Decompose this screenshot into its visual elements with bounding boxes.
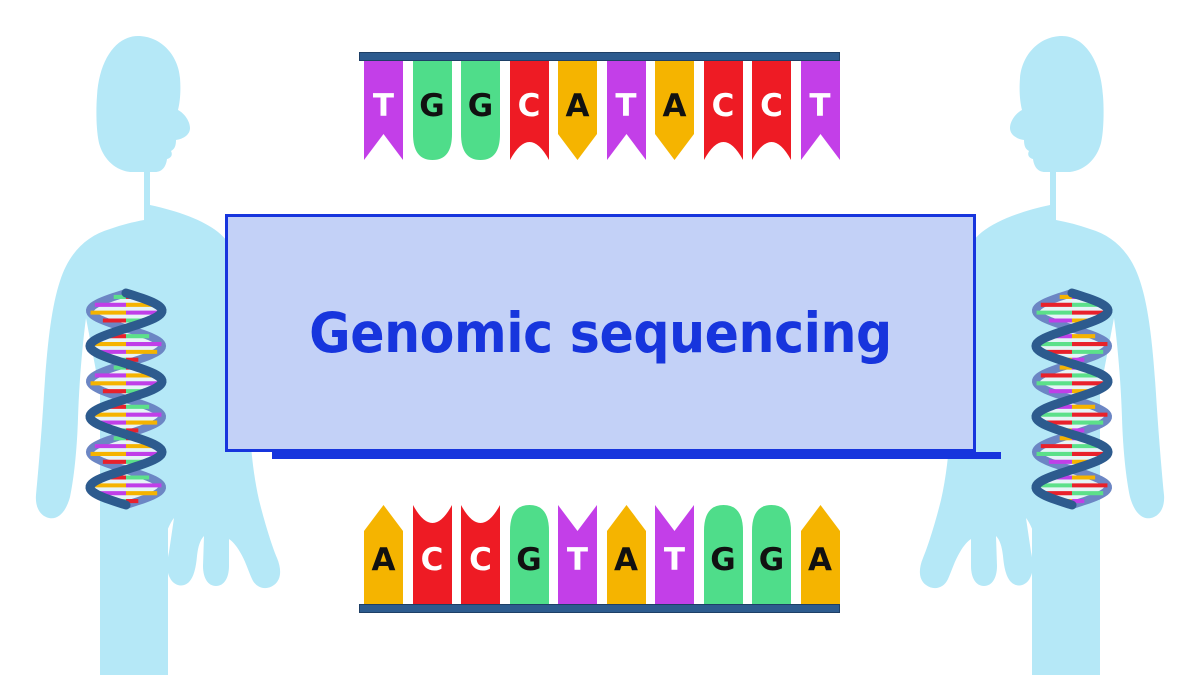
dna-base-flag: G: [413, 61, 452, 160]
dna-base-letter: G: [752, 545, 791, 576]
dna-base-letter: T: [655, 545, 694, 576]
dna-base-letter: C: [461, 545, 500, 576]
sequence-bar-bottom: [359, 604, 840, 613]
dna-base-letter: G: [510, 545, 549, 576]
page-title: Genomic sequencing: [255, 214, 946, 452]
dna-base-letter: C: [413, 545, 452, 576]
dna-sequence-top: TGGCATACCT: [359, 52, 840, 160]
dna-base-flag: T: [655, 505, 694, 604]
dna-base-letter: C: [704, 91, 743, 122]
dna-base-flag: A: [607, 505, 646, 604]
dna-base-flag: G: [704, 505, 743, 604]
dna-base-flag: G: [752, 505, 791, 604]
dna-base-flag: C: [704, 61, 743, 160]
dna-base-flag: C: [413, 505, 452, 604]
dna-base-letter: A: [655, 91, 694, 122]
poster-canvas: Genomic sequencing TGGCATACCT ACCGTATGGA: [0, 0, 1200, 675]
dna-base-flag: A: [801, 505, 840, 604]
dna-base-flag: G: [510, 505, 549, 604]
dna-base-flag: A: [558, 61, 597, 160]
dna-base-letter: T: [558, 545, 597, 576]
title-underline: [272, 452, 1001, 459]
sequence-bar-top: [359, 52, 840, 61]
sequence-flags-bottom: ACCGTATGGA: [359, 505, 840, 604]
dna-base-flag: G: [461, 61, 500, 160]
dna-base-letter: A: [801, 545, 840, 576]
dna-base-letter: C: [752, 91, 791, 122]
dna-base-letter: A: [558, 91, 597, 122]
dna-base-flag: T: [801, 61, 840, 160]
dna-base-letter: A: [607, 545, 646, 576]
dna-base-flag: T: [558, 505, 597, 604]
dna-base-flag: C: [461, 505, 500, 604]
dna-base-letter: T: [607, 91, 646, 122]
sequence-flags-top: TGGCATACCT: [359, 61, 840, 160]
dna-base-flag: T: [607, 61, 646, 160]
dna-base-letter: G: [413, 91, 452, 122]
dna-base-letter: T: [364, 91, 403, 122]
dna-base-flag: A: [655, 61, 694, 160]
dna-sequence-bottom: ACCGTATGGA: [359, 505, 840, 613]
dna-base-flag: C: [752, 61, 791, 160]
dna-base-letter: C: [510, 91, 549, 122]
dna-base-letter: G: [704, 545, 743, 576]
dna-base-flag: C: [510, 61, 549, 160]
dna-base-letter: T: [801, 91, 840, 122]
dna-base-flag: A: [364, 505, 403, 604]
dna-base-flag: T: [364, 61, 403, 160]
dna-base-letter: G: [461, 91, 500, 122]
dna-base-letter: A: [364, 545, 403, 576]
